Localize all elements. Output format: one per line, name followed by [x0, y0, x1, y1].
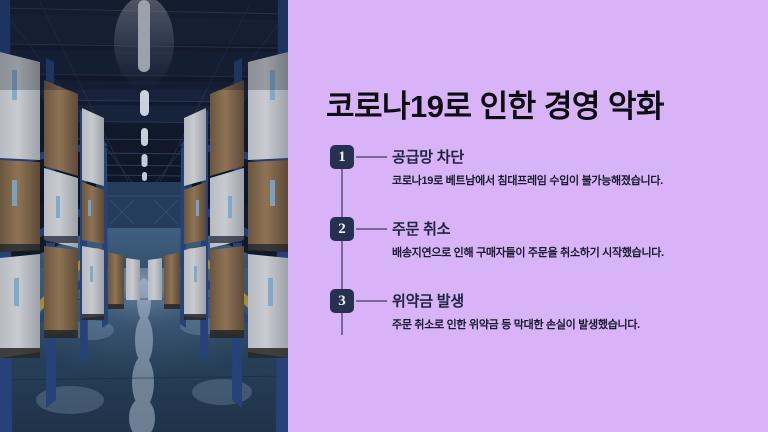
step-number-badge: 1 — [330, 145, 354, 169]
timeline-step: 1 공급망 차단 코로나19로 베트남에서 침대프레임 수입이 불가능해졌습니다… — [288, 140, 768, 200]
step-number-badge: 3 — [330, 289, 354, 313]
timeline: 1 공급망 차단 코로나19로 베트남에서 침대프레임 수입이 불가능해졌습니다… — [288, 0, 768, 432]
timeline-step: 2 주문 취소 배송지연으로 인해 구매자들이 주문을 취소하기 시작했습니다. — [288, 212, 768, 272]
content-panel: 코로나19로 인한 경영 악화 1 공급망 차단 코로나19로 베트남에서 침대… — [288, 0, 768, 432]
step-description: 배송지연으로 인해 구매자들이 주문을 취소하기 시작했습니다. — [392, 244, 664, 260]
step-description: 주문 취소로 인한 위약금 등 막대한 손실이 발생했습니다. — [392, 316, 640, 332]
step-heading: 공급망 차단 — [392, 146, 464, 167]
slide-root: 코로나19로 인한 경영 악화 1 공급망 차단 코로나19로 베트남에서 침대… — [0, 0, 768, 432]
step-connector-line — [356, 300, 387, 302]
warehouse-illustration — [0, 0, 288, 432]
warehouse-aisle-photo — [0, 0, 288, 432]
step-number-badge: 2 — [330, 217, 354, 241]
step-connector-line — [356, 228, 387, 230]
timeline-step: 3 위약금 발생 주문 취소로 인한 위약금 등 막대한 손실이 발생했습니다. — [288, 284, 768, 344]
step-connector-line — [356, 156, 387, 158]
step-heading: 주문 취소 — [392, 218, 450, 239]
step-description: 코로나19로 베트남에서 침대프레임 수입이 불가능해졌습니다. — [392, 172, 663, 188]
step-heading: 위약금 발생 — [392, 290, 464, 311]
